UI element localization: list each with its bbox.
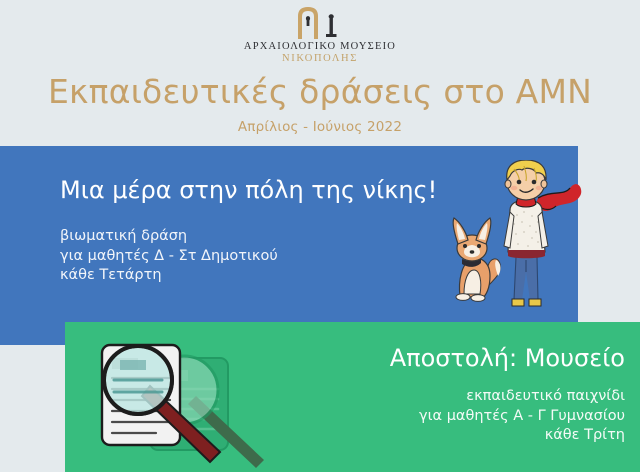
program-blue-detail-line-3: κάθε Τετάρτη [60, 266, 278, 286]
program-blue-details: βιωματική δράση για μαθητές Δ - Στ Δημοτ… [60, 227, 278, 286]
page-subtitle: Απρίλιος - Ιούνιος 2022 [0, 119, 640, 135]
program-blue-detail-line-2: για μαθητές Δ - Στ Δημοτικού [60, 247, 278, 267]
program-blue-heading: Μια μέρα στην πόλη της νίκης! [60, 176, 437, 204]
program-green-heading: Αποστολή: Μουσείο [390, 344, 625, 372]
page-title: Εκπαιδευτικές δράσεις στο ΑΜΝ [0, 72, 640, 111]
program-green-detail-line-3: κάθε Τρίτη [419, 426, 625, 446]
program-green-detail-line-2: για μαθητές Α - Γ Γυμνασίου [419, 407, 625, 427]
program-green-details: εκπαιδευτικό παιχνίδι για μαθητές Α - Γ … [419, 387, 625, 446]
program-green-detail-line-1: εκπαιδευτικό παιχνίδι [419, 387, 625, 407]
museum-name-secondary: ΝΙΚΟΠΟΛΗΣ [0, 53, 640, 64]
poster-canvas: ΑΡΧΑΙΟΛΟΓΙΚΟ ΜΟΥΣΕΙΟ ΝΙΚΟΠΟΛΗΣ Εκπαιδευτ… [0, 0, 640, 472]
boy-with-fox-illustration [452, 160, 582, 325]
museum-arch-logo-icon [284, 4, 356, 40]
fox-illustration [453, 218, 500, 301]
museum-name-primary: ΑΡΧΑΙΟΛΟΓΙΚΟ ΜΟΥΣΕΙΟ [0, 41, 640, 52]
magnifying-glass-document-illustration [88, 340, 268, 472]
program-blue-detail-line-1: βιωματική δράση [60, 227, 278, 247]
museum-logo-block: ΑΡΧΑΙΟΛΟΓΙΚΟ ΜΟΥΣΕΙΟ ΝΙΚΟΠΟΛΗΣ [0, 4, 640, 64]
